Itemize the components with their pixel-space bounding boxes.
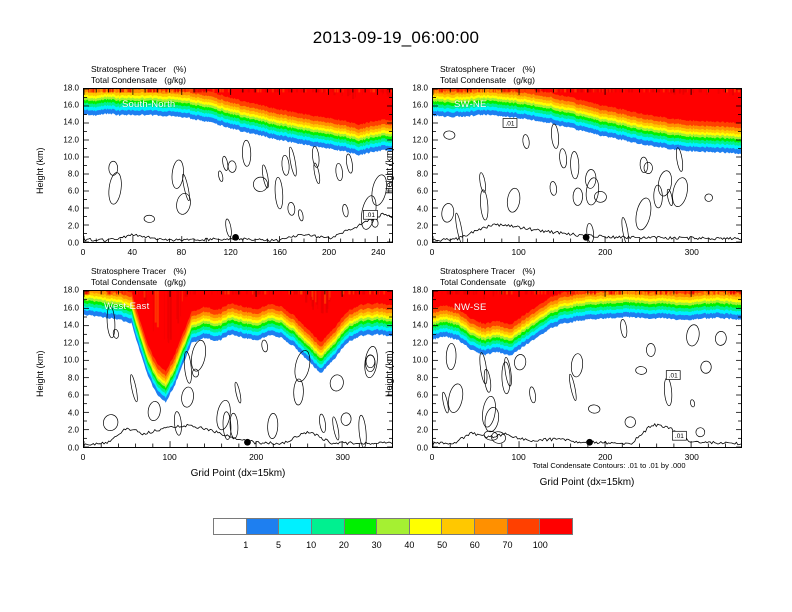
x-tick-label: 0 <box>430 452 435 462</box>
contour-label-text: .01 <box>669 372 678 379</box>
location-marker-nw-se <box>586 439 593 446</box>
colorbar-swatch <box>345 519 378 534</box>
x-tick-label: 100 <box>162 452 176 462</box>
colorbar-swatch <box>247 519 280 534</box>
location-marker-south-north <box>232 234 239 241</box>
y-axis-title: Height (km) <box>384 147 394 194</box>
contour-label-text: .01 <box>675 433 684 440</box>
panel-header-nw-se: Stratosphere Tracer (%) Total Condensate… <box>440 266 535 287</box>
y-tick-label: 18.0 <box>49 286 79 295</box>
x-tick-label: 0 <box>81 247 86 257</box>
colorbar <box>213 518 573 535</box>
colorbar-swatch <box>410 519 443 534</box>
y-tick-label: 0.0 <box>49 444 79 453</box>
colorbar-swatch <box>214 519 247 534</box>
colorbar-tick-label: 40 <box>404 540 414 550</box>
y-tick-label: 8.0 <box>398 373 428 382</box>
x-tick-label: 40 <box>127 247 136 257</box>
condensate-contour-blobs-south-north <box>107 140 389 237</box>
y-tick-label: 16.0 <box>49 101 79 110</box>
y-tick-label: 8.0 <box>49 170 79 179</box>
y-tick-label: 14.0 <box>49 321 79 330</box>
x-tick-label: 100 <box>511 247 525 257</box>
y-tick-label: 6.0 <box>398 187 428 196</box>
colorbar-tick-label: 50 <box>437 540 447 550</box>
figure-canvas: 2013-09-19_06:00:00 Stratosphere Tracer … <box>0 0 792 612</box>
y-tick-label: 4.0 <box>49 408 79 417</box>
colorbar-tick-label: 1 <box>243 540 248 550</box>
y-tick-label: 10.0 <box>49 356 79 365</box>
x-axis-title-right: Grid Point (dx=15km) <box>540 477 635 488</box>
y-tick-label: 10.0 <box>398 356 428 365</box>
y-tick-label: 18.0 <box>49 84 79 93</box>
tracer-field-sw-ne: .01 <box>433 89 741 242</box>
y-tick-label: 12.0 <box>398 338 428 347</box>
x-tick-label: 0 <box>430 247 435 257</box>
x-tick-label: 120 <box>224 247 238 257</box>
colorbar-swatch <box>540 519 572 534</box>
tracer-field-nw-se: .01.01 <box>433 291 741 447</box>
x-tick-label: 80 <box>177 247 186 257</box>
y-tick-label: 2.0 <box>49 426 79 435</box>
y-tick-label: 12.0 <box>398 135 428 144</box>
y-tick-label: 6.0 <box>398 391 428 400</box>
y-tick-label: 2.0 <box>398 426 428 435</box>
y-tick-label: 2.0 <box>398 221 428 230</box>
y-axis-title: Height (km) <box>384 350 394 397</box>
plot-area-nw-se: .01.01 <box>432 290 742 448</box>
tracer-field-south-north: .01 <box>84 89 392 242</box>
y-tick-label: 0.0 <box>398 239 428 248</box>
x-tick-label: 100 <box>511 452 525 462</box>
y-tick-label: 0.0 <box>49 239 79 248</box>
y-tick-label: 14.0 <box>49 118 79 127</box>
x-tick-label: 0 <box>81 452 86 462</box>
colorbar-swatch <box>475 519 508 534</box>
y-tick-label: 18.0 <box>398 84 428 93</box>
location-marker-sw-ne <box>583 234 590 241</box>
y-tick-label: 12.0 <box>49 135 79 144</box>
y-axis-title: Height (km) <box>35 350 45 397</box>
panel-header-south-north: Stratosphere Tracer (%) Total Condensate… <box>91 64 186 85</box>
colorbar-swatch <box>508 519 541 534</box>
x-tick-label: 200 <box>598 247 612 257</box>
tracer-field-west-east <box>84 291 392 447</box>
x-tick-label: 300 <box>685 452 699 462</box>
plot-area-south-north: .01 <box>83 88 393 243</box>
y-tick-label: 8.0 <box>49 373 79 382</box>
y-tick-label: 16.0 <box>398 303 428 312</box>
colorbar-tick-label: 70 <box>503 540 513 550</box>
y-tick-label: 14.0 <box>398 321 428 330</box>
location-marker-west-east <box>244 439 251 446</box>
y-tick-label: 8.0 <box>398 170 428 179</box>
colorbar-swatch <box>442 519 475 534</box>
figure-title: 2013-09-19_06:00:00 <box>0 28 792 48</box>
colorbar-tick-label: 10 <box>306 540 316 550</box>
y-tick-label: 18.0 <box>398 286 428 295</box>
panel-header-sw-ne: Stratosphere Tracer (%) Total Condensate… <box>440 64 535 85</box>
y-tick-label: 4.0 <box>398 204 428 213</box>
contour-label-text: .01 <box>366 212 375 219</box>
colorbar-swatch <box>312 519 345 534</box>
y-axis-title: Height (km) <box>35 147 45 194</box>
colorbar-tick-label: 30 <box>372 540 382 550</box>
plot-area-sw-ne: .01 <box>432 88 742 243</box>
colorbar-swatch <box>279 519 312 534</box>
y-tick-label: 4.0 <box>398 408 428 417</box>
x-axis-title-left: Grid Point (dx=15km) <box>191 468 286 479</box>
x-tick-label: 300 <box>336 452 350 462</box>
panel-header-west-east: Stratosphere Tracer (%) Total Condensate… <box>91 266 186 287</box>
x-tick-label: 160 <box>273 247 287 257</box>
y-tick-label: 16.0 <box>398 101 428 110</box>
y-tick-label: 10.0 <box>49 152 79 161</box>
y-tick-label: 10.0 <box>398 152 428 161</box>
colorbar-swatch <box>377 519 410 534</box>
contour-note: Total Condensate Contours: .01 to .01 by… <box>532 461 685 470</box>
y-tick-label: 16.0 <box>49 303 79 312</box>
x-tick-label: 240 <box>371 247 385 257</box>
y-tick-label: 6.0 <box>49 187 79 196</box>
plot-area-west-east <box>83 290 393 448</box>
y-tick-label: 0.0 <box>398 444 428 453</box>
colorbar-tick-label: 20 <box>339 540 349 550</box>
x-tick-label: 200 <box>322 247 336 257</box>
colorbar-tick-label: 5 <box>276 540 281 550</box>
y-tick-label: 2.0 <box>49 221 79 230</box>
y-tick-label: 14.0 <box>398 118 428 127</box>
y-tick-label: 4.0 <box>49 204 79 213</box>
contour-label-text: .01 <box>506 120 515 127</box>
x-tick-label: 200 <box>249 452 263 462</box>
colorbar-tick-label: 100 <box>533 540 548 550</box>
y-tick-label: 6.0 <box>49 391 79 400</box>
colorbar-tick-label: 60 <box>470 540 480 550</box>
x-tick-label: 300 <box>685 247 699 257</box>
y-tick-label: 12.0 <box>49 338 79 347</box>
